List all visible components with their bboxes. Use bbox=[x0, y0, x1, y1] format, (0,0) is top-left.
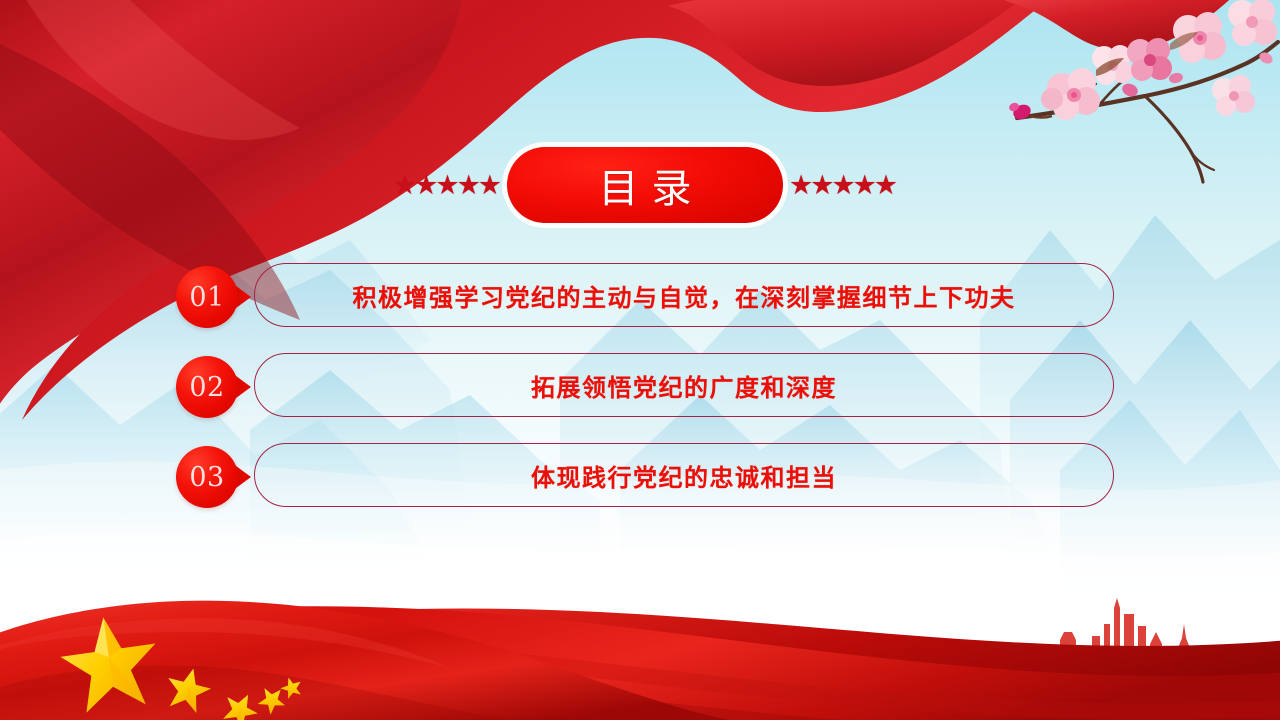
item-number: 03 bbox=[189, 462, 224, 493]
item-number: 01 bbox=[189, 282, 224, 313]
item-number-badge: 03 bbox=[176, 446, 238, 508]
presentation-slide: ★ ★ ★ ★ ★ 目录 ★ ★ ★ ★ ★ 01 积极增强学习党纪的主动与自觉… bbox=[0, 0, 1280, 720]
item-number-badge: 01 bbox=[176, 266, 238, 328]
item-number-badge: 02 bbox=[176, 356, 238, 418]
item-number: 02 bbox=[189, 372, 224, 403]
